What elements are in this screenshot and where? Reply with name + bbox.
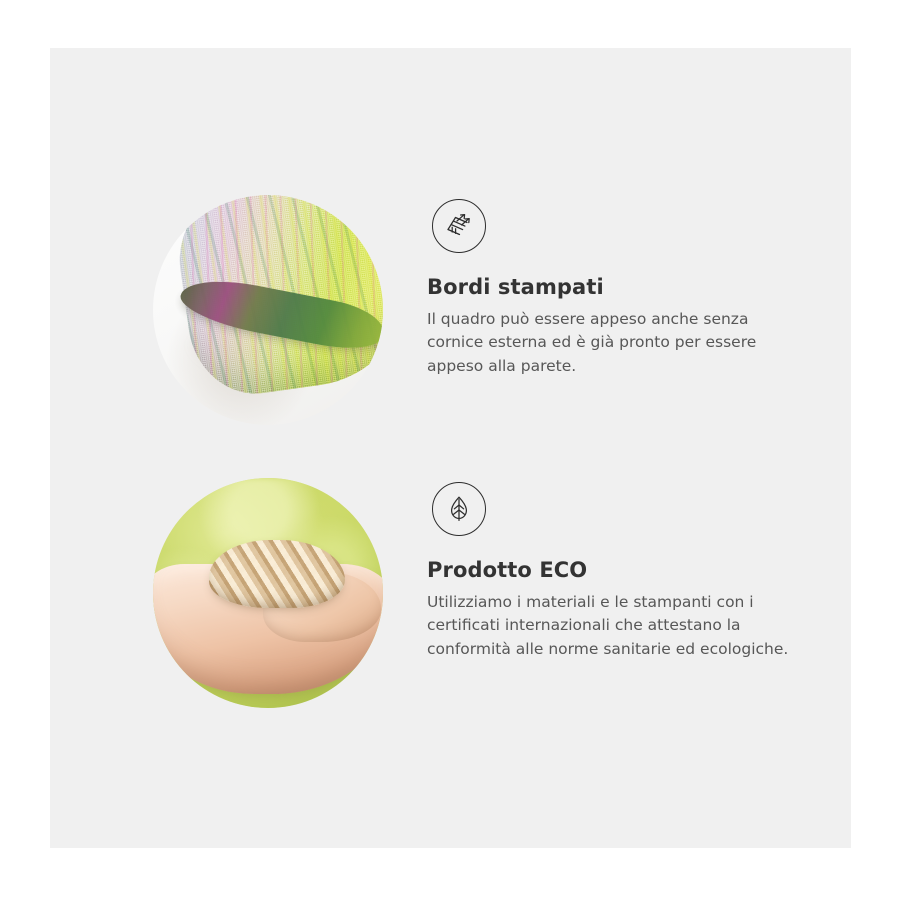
product-info-page: Bordi stampati Il quadro può essere appe… xyxy=(0,0,900,900)
feature-description: Utilizziamo i materiali e le stampanti c… xyxy=(427,591,797,661)
feature-text-eco-product: Prodotto ECO Utilizziamo i materiali e l… xyxy=(427,478,827,661)
canvas-wrapped-edges-icon xyxy=(432,199,486,253)
canvas-corner-photo xyxy=(153,195,383,425)
feature-text-printed-edges: Bordi stampati Il quadro può essere appe… xyxy=(427,195,827,378)
canvas-photo-inner xyxy=(153,195,383,425)
feature-title: Bordi stampati xyxy=(427,275,827,300)
hands-wood-chips-photo xyxy=(153,478,383,708)
content-panel: Bordi stampati Il quadro può essere appe… xyxy=(50,48,851,848)
leaf-icon xyxy=(432,482,486,536)
eco-photo-inner xyxy=(153,478,383,708)
feature-description: Il quadro può essere appeso anche senza … xyxy=(427,308,797,378)
feature-block-printed-edges: Bordi stampati Il quadro può essere appe… xyxy=(153,195,843,425)
feature-block-eco-product: Prodotto ECO Utilizziamo i materiali e l… xyxy=(153,478,843,708)
feature-title: Prodotto ECO xyxy=(427,558,827,583)
wood-chips-pile xyxy=(209,540,345,608)
